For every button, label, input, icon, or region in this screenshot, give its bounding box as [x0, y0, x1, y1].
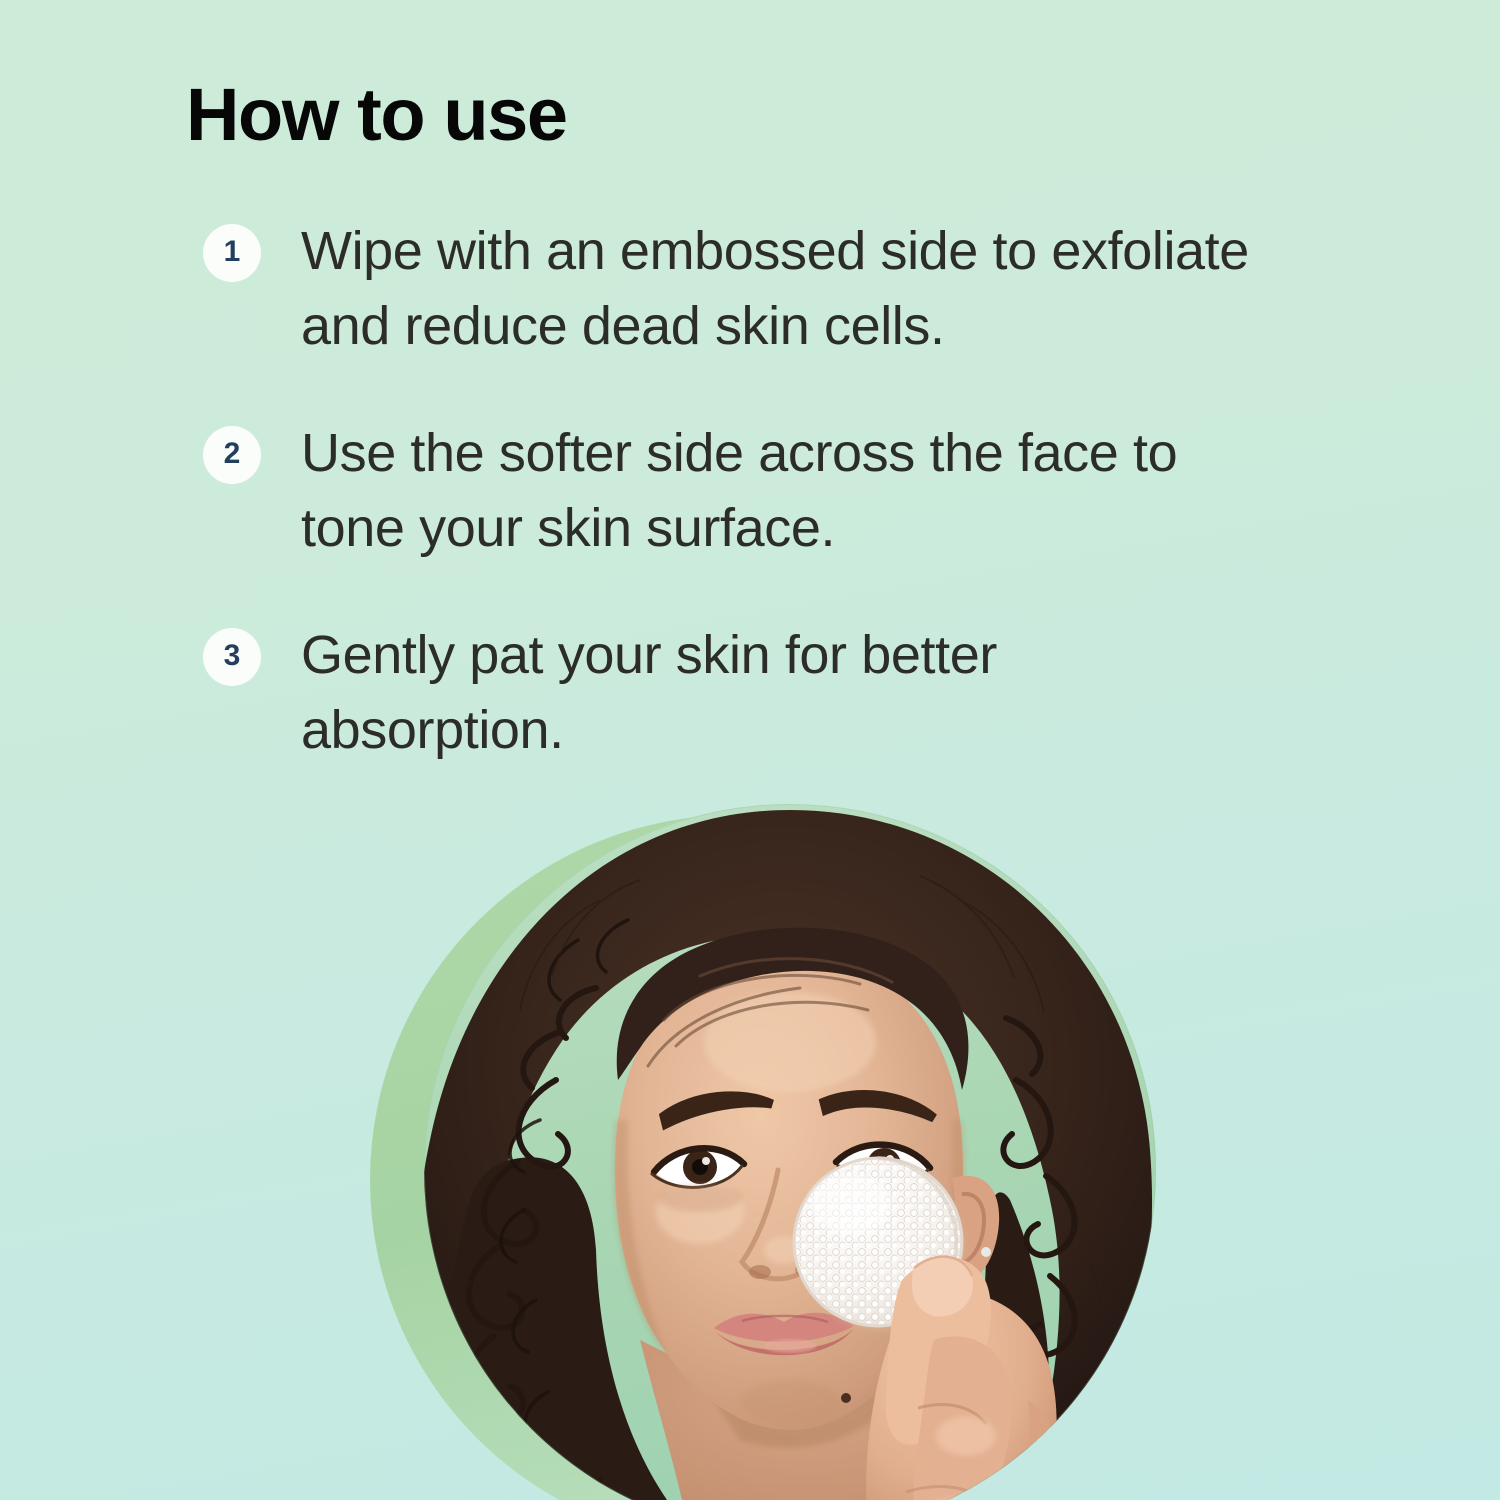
model-photo [0, 780, 1500, 1500]
step-number-badge: 1 [203, 224, 261, 282]
list-item: 1 Wipe with an embossed side to exfoliat… [186, 214, 1346, 364]
step-number: 2 [224, 439, 241, 469]
step-text: Wipe with an embossed side to exfoliate … [301, 214, 1261, 364]
page-title: How to use [186, 72, 567, 158]
how-to-use-infographic: How to use 1 Wipe with an embossed side … [0, 0, 1500, 1500]
list-item: 2 Use the softer side across the face to… [186, 416, 1346, 566]
step-number-badge: 3 [203, 628, 261, 686]
list-item: 3 Gently pat your skin for better absorp… [186, 618, 1346, 768]
step-text: Use the softer side across the face to t… [301, 416, 1261, 566]
step-number-badge: 2 [203, 426, 261, 484]
step-text: Gently pat your skin for better absorpti… [301, 618, 1261, 768]
model-photo-block [0, 780, 1500, 1500]
step-number: 3 [224, 641, 241, 671]
steps-list: 1 Wipe with an embossed side to exfoliat… [186, 214, 1346, 768]
step-number: 1 [224, 237, 241, 267]
